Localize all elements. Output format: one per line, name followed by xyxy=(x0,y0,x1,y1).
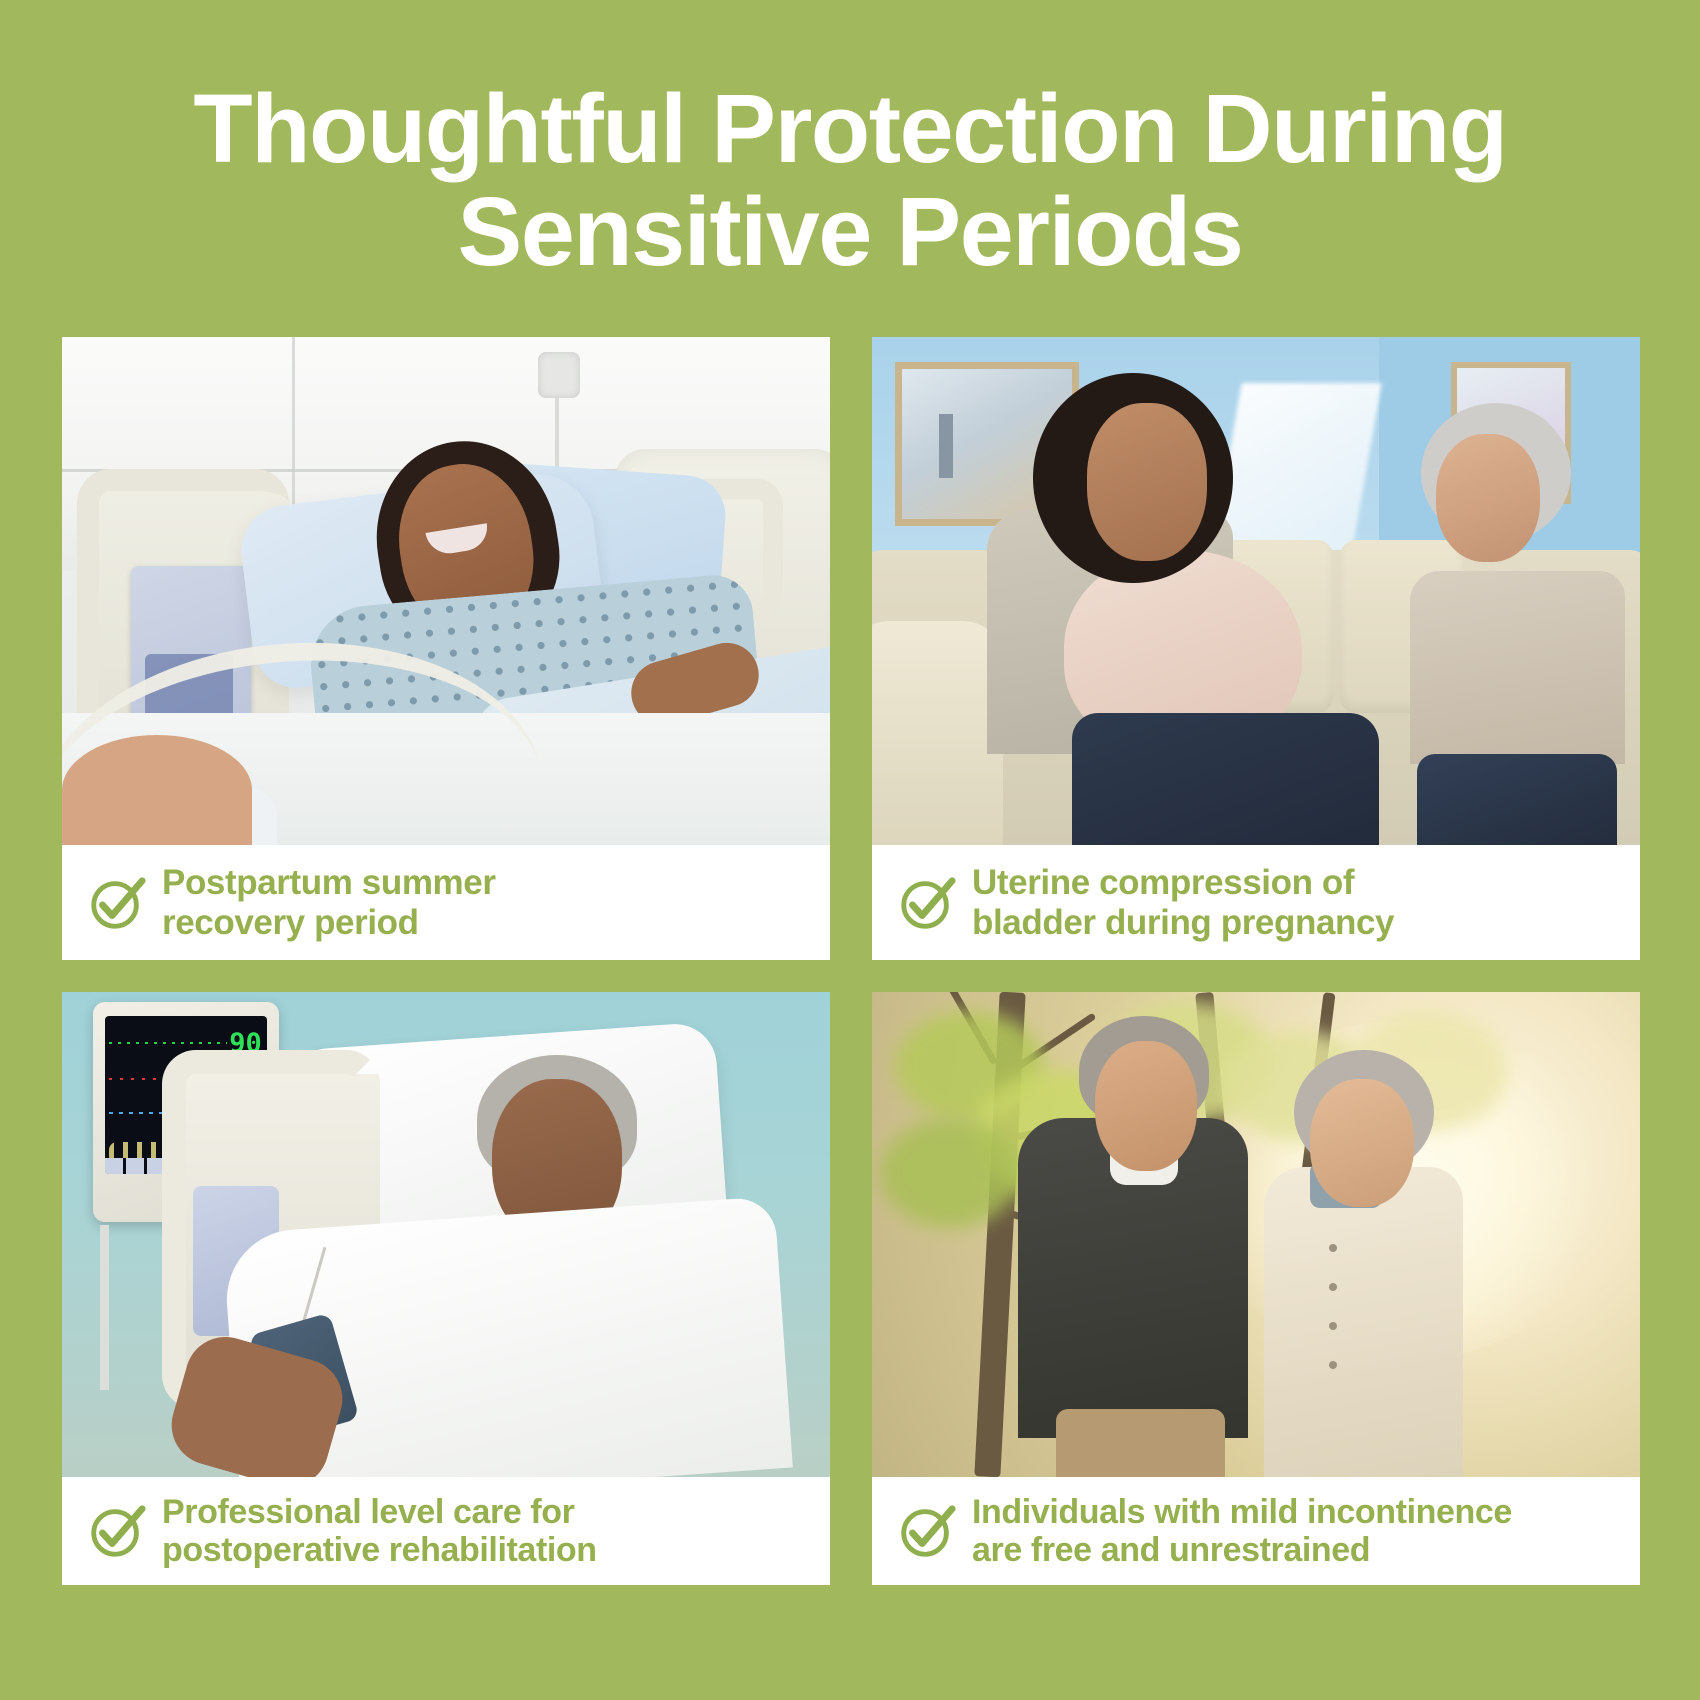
caption-text: Professional level care for postoperativ… xyxy=(162,1493,597,1570)
photo-postoperative-rehabilitation: 90 80 xyxy=(62,992,830,1477)
benefit-card-uterine-compression[interactable]: Uterine compression of bladder during pr… xyxy=(872,337,1640,960)
caption-postoperative-rehabilitation: Professional level care for postoperativ… xyxy=(62,1477,830,1585)
check-circle-icon xyxy=(86,1500,148,1562)
benefit-card-mild-incontinence[interactable]: Individuals with mild incontinence are f… xyxy=(872,992,1640,1585)
check-circle-icon xyxy=(896,872,958,934)
benefit-card-postpartum-recovery[interactable]: Postpartum summer recovery period xyxy=(62,337,830,960)
caption-text: Uterine compression of bladder during pr… xyxy=(972,863,1394,942)
check-circle-icon xyxy=(896,1500,958,1562)
check-circle-icon xyxy=(86,872,148,934)
caption-text: Postpartum summer recovery period xyxy=(162,863,496,942)
caption-mild-incontinence: Individuals with mild incontinence are f… xyxy=(872,1477,1640,1585)
benefit-card-postoperative-rehabilitation[interactable]: 90 80 Professional level care for postop… xyxy=(62,992,830,1585)
caption-uterine-compression: Uterine compression of bladder during pr… xyxy=(872,845,1640,960)
photo-uterine-compression xyxy=(872,337,1640,845)
caption-postpartum-recovery: Postpartum summer recovery period xyxy=(62,845,830,960)
photo-mild-incontinence xyxy=(872,992,1640,1477)
photo-postpartum-recovery xyxy=(62,337,830,845)
page-title: Thoughtful Protection During Sensitive P… xyxy=(0,78,1700,284)
benefit-card-grid: Postpartum summer recovery period xyxy=(62,337,1640,1585)
caption-text: Individuals with mild incontinence are f… xyxy=(972,1493,1512,1570)
